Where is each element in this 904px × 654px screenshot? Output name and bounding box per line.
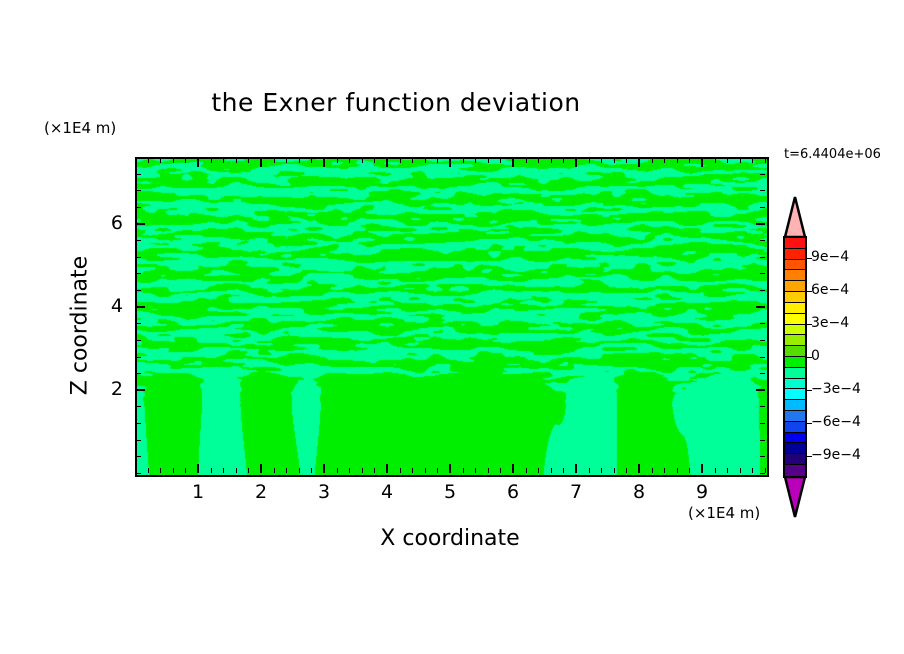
- x-minor-tick-top: [589, 158, 590, 163]
- x-major-tick-top: [638, 158, 640, 167]
- x-minor-tick: [589, 468, 590, 473]
- x-minor-tick-top: [765, 158, 766, 163]
- x-minor-tick: [715, 468, 716, 473]
- x-minor-tick: [551, 468, 552, 473]
- colorbar-tick-label: −3e−4: [811, 381, 861, 397]
- colorbar-band: [785, 314, 805, 325]
- x-minor-tick-top: [463, 158, 464, 163]
- x-major-tick: [512, 464, 514, 473]
- x-minor-tick-top: [374, 158, 375, 163]
- colorbar-band: [785, 292, 805, 303]
- y-minor-tick: [136, 157, 141, 158]
- y-minor-tick-right: [760, 440, 765, 441]
- colorbar-band: [785, 454, 805, 465]
- colorbar-band: [785, 249, 805, 260]
- colorbar-band: [785, 443, 805, 454]
- x-minor-tick: [274, 468, 275, 473]
- y-minor-tick: [136, 456, 141, 457]
- y-minor-tick: [136, 357, 141, 358]
- y-minor-tick: [136, 406, 141, 407]
- x-minor-tick: [148, 468, 149, 473]
- x-minor-tick-top: [311, 158, 312, 163]
- y-minor-tick: [136, 273, 141, 274]
- x-minor-tick-top: [223, 158, 224, 163]
- x-minor-tick: [236, 468, 237, 473]
- y-minor-tick-right: [760, 357, 765, 358]
- y-minor-tick-right: [760, 174, 765, 175]
- x-minor-tick: [601, 468, 602, 473]
- x-major-tick-top: [197, 158, 199, 167]
- colorbar-tick: [807, 423, 812, 424]
- colorbar-over-arrow-icon: [783, 196, 807, 238]
- x-tick-label: 1: [178, 481, 218, 503]
- y-minor-tick-right: [760, 406, 765, 407]
- x-minor-tick-top: [185, 158, 186, 163]
- x-minor-tick: [337, 468, 338, 473]
- x-minor-tick-top: [362, 158, 363, 163]
- colorbar-band: [785, 368, 805, 379]
- x-minor-tick-top: [160, 158, 161, 163]
- colorbar-band: [785, 433, 805, 444]
- x-tick-label: 4: [367, 481, 407, 503]
- y-minor-tick: [136, 340, 141, 341]
- x-minor-tick-top: [211, 158, 212, 163]
- y-minor-tick-right: [760, 290, 765, 291]
- colorbar-band: [785, 335, 805, 346]
- x-tick-label: 5: [430, 481, 470, 503]
- contour-field: [137, 159, 767, 475]
- x-minor-tick: [614, 468, 615, 473]
- x-major-tick: [575, 464, 577, 473]
- x-minor-tick-top: [148, 158, 149, 163]
- x-minor-tick-top: [626, 158, 627, 163]
- contour-plot-area: [135, 157, 769, 477]
- y-minor-tick-right: [760, 257, 765, 258]
- colorbar-tick-label: 0: [811, 348, 820, 364]
- x-tick-label: 7: [556, 481, 596, 503]
- y-major-tick: [136, 389, 145, 391]
- y-minor-tick-right: [760, 473, 765, 474]
- x-minor-tick-top: [400, 158, 401, 163]
- x-minor-tick-top: [752, 158, 753, 163]
- colorbar-band: [785, 400, 805, 411]
- y-minor-tick-right: [760, 423, 765, 424]
- colorbar-band: [785, 303, 805, 314]
- colorbar-band: [785, 465, 805, 476]
- x-minor-tick: [765, 468, 766, 473]
- x-minor-tick: [677, 468, 678, 473]
- y-minor-tick: [136, 174, 141, 175]
- x-minor-tick: [299, 468, 300, 473]
- x-major-tick-top: [386, 158, 388, 167]
- y-minor-tick: [136, 473, 141, 474]
- colorbar-tick-label: −9e−4: [811, 447, 861, 463]
- y-minor-tick-right: [760, 157, 765, 158]
- x-major-tick-top: [323, 158, 325, 167]
- y-major-tick: [136, 223, 145, 225]
- colorbar-band: [785, 422, 805, 433]
- y-minor-tick-right: [760, 323, 765, 324]
- x-minor-tick: [248, 468, 249, 473]
- x-minor-tick-top: [740, 158, 741, 163]
- colorbar-band: [785, 281, 805, 292]
- x-minor-tick-top: [286, 158, 287, 163]
- x-minor-tick-top: [337, 158, 338, 163]
- x-minor-tick-top: [437, 158, 438, 163]
- x-major-tick: [701, 464, 703, 473]
- y-minor-tick: [136, 207, 141, 208]
- x-minor-tick-top: [248, 158, 249, 163]
- x-minor-tick: [223, 468, 224, 473]
- colorbar: 9e−46e−43e−40−3e−4−6e−4−9e−4: [783, 196, 807, 518]
- x-minor-tick-top: [488, 158, 489, 163]
- x-major-tick: [638, 464, 640, 473]
- x-minor-tick: [626, 468, 627, 473]
- x-minor-tick: [211, 468, 212, 473]
- x-minor-tick-top: [652, 158, 653, 163]
- x-major-tick-top: [701, 158, 703, 167]
- x-minor-tick: [349, 468, 350, 473]
- x-minor-tick-top: [475, 158, 476, 163]
- colorbar-tick: [807, 390, 812, 391]
- x-minor-tick-top: [500, 158, 501, 163]
- colorbar-tick: [807, 258, 812, 259]
- y-major-tick: [136, 306, 145, 308]
- x-minor-tick: [311, 468, 312, 473]
- x-minor-tick: [526, 468, 527, 473]
- colorbar-tick-label: −6e−4: [811, 414, 861, 430]
- x-minor-tick-top: [173, 158, 174, 163]
- x-major-tick-top: [449, 158, 451, 167]
- x-minor-tick: [412, 468, 413, 473]
- x-minor-tick: [538, 468, 539, 473]
- x-minor-tick-top: [601, 158, 602, 163]
- x-minor-tick-top: [299, 158, 300, 163]
- colorbar-band: [785, 238, 805, 249]
- page-title: the Exner function deviation: [0, 88, 848, 117]
- x-minor-tick-top: [715, 158, 716, 163]
- x-major-tick: [260, 464, 262, 473]
- y-minor-tick: [136, 323, 141, 324]
- x-tick-label: 8: [619, 481, 659, 503]
- x-minor-tick-top: [349, 158, 350, 163]
- y-minor-tick-right: [760, 273, 765, 274]
- x-major-tick: [323, 464, 325, 473]
- x-minor-tick-top: [412, 158, 413, 163]
- x-minor-tick: [664, 468, 665, 473]
- x-major-tick: [386, 464, 388, 473]
- y-axis-title: Z coordinate: [68, 226, 93, 426]
- y-minor-tick-right: [760, 207, 765, 208]
- x-minor-tick-top: [526, 158, 527, 163]
- x-minor-tick-top: [664, 158, 665, 163]
- x-minor-tick: [374, 468, 375, 473]
- x-tick-label: 2: [241, 481, 281, 503]
- x-minor-tick: [400, 468, 401, 473]
- x-minor-tick: [752, 468, 753, 473]
- y-axis-unit-label: (×1E4 m): [44, 119, 116, 137]
- x-major-tick: [197, 464, 199, 473]
- time-annotation: t=6.4404e+06: [784, 147, 881, 162]
- x-minor-tick: [500, 468, 501, 473]
- x-minor-tick: [185, 468, 186, 473]
- x-minor-tick: [425, 468, 426, 473]
- x-major-tick-top: [260, 158, 262, 167]
- x-minor-tick-top: [689, 158, 690, 163]
- y-minor-tick-right: [760, 340, 765, 341]
- y-minor-tick-right: [760, 240, 765, 241]
- y-minor-tick: [136, 440, 141, 441]
- x-minor-tick: [173, 468, 174, 473]
- x-minor-tick: [475, 468, 476, 473]
- colorbar-band: [785, 357, 805, 368]
- x-minor-tick: [563, 468, 564, 473]
- colorbar-band: [785, 389, 805, 400]
- colorbar-tick: [807, 324, 812, 325]
- x-minor-tick: [160, 468, 161, 473]
- x-minor-tick: [652, 468, 653, 473]
- x-minor-tick: [727, 468, 728, 473]
- x-minor-tick-top: [236, 158, 237, 163]
- colorbar-band: [785, 346, 805, 357]
- colorbar-band: [785, 325, 805, 336]
- colorbar-tick-label: 3e−4: [811, 315, 849, 331]
- x-major-tick-top: [512, 158, 514, 167]
- x-minor-tick-top: [551, 158, 552, 163]
- y-minor-tick: [136, 423, 141, 424]
- x-minor-tick-top: [135, 158, 136, 163]
- x-minor-tick-top: [614, 158, 615, 163]
- y-minor-tick: [136, 373, 141, 374]
- y-major-tick-right: [756, 389, 765, 391]
- x-minor-tick: [463, 468, 464, 473]
- y-minor-tick: [136, 190, 141, 191]
- x-minor-tick-top: [677, 158, 678, 163]
- x-minor-tick-top: [425, 158, 426, 163]
- x-minor-tick: [286, 468, 287, 473]
- x-minor-tick-top: [563, 158, 564, 163]
- colorbar-under-arrow-icon: [783, 476, 807, 518]
- colorbar-bands: [783, 236, 807, 478]
- x-minor-tick: [437, 468, 438, 473]
- y-minor-tick-right: [760, 373, 765, 374]
- x-tick-label: 6: [493, 481, 533, 503]
- colorbar-tick: [807, 456, 812, 457]
- x-tick-label: 9: [682, 481, 722, 503]
- y-minor-tick: [136, 257, 141, 258]
- y-major-tick-right: [756, 306, 765, 308]
- x-minor-tick-top: [538, 158, 539, 163]
- x-tick-label: 3: [304, 481, 344, 503]
- x-major-tick-top: [575, 158, 577, 167]
- y-major-tick-right: [756, 223, 765, 225]
- x-major-tick: [449, 464, 451, 473]
- colorbar-band: [785, 379, 805, 390]
- x-minor-tick: [488, 468, 489, 473]
- y-minor-tick-right: [760, 456, 765, 457]
- x-minor-tick: [740, 468, 741, 473]
- colorbar-tick: [807, 357, 812, 358]
- y-minor-tick: [136, 240, 141, 241]
- colorbar-tick-label: 6e−4: [811, 282, 849, 298]
- x-minor-tick-top: [727, 158, 728, 163]
- x-axis-unit-label: (×1E4 m): [688, 504, 760, 522]
- x-minor-tick-top: [274, 158, 275, 163]
- colorbar-band: [785, 270, 805, 281]
- x-axis-title: X coordinate: [135, 526, 765, 551]
- y-minor-tick: [136, 290, 141, 291]
- x-minor-tick: [689, 468, 690, 473]
- y-minor-tick-right: [760, 190, 765, 191]
- colorbar-tick-label: 9e−4: [811, 249, 849, 265]
- x-minor-tick: [362, 468, 363, 473]
- colorbar-band: [785, 411, 805, 422]
- colorbar-tick: [807, 291, 812, 292]
- colorbar-band: [785, 260, 805, 271]
- figure-canvas: the Exner function deviation (×1E4 m) (×…: [0, 0, 904, 654]
